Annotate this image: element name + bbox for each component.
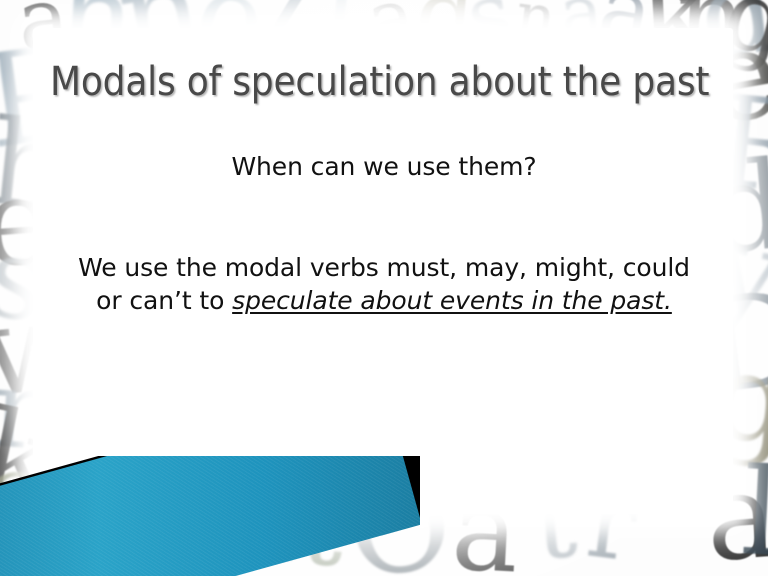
slide-title: Modals of speculation about the past [50,59,710,106]
presentation-slide: ahnoZladsnaakndgPheswrkaeRdyDgalutOatr M… [0,0,768,576]
body-paragraph: We use the modal verbs must, may, might,… [58,251,710,317]
body-subhead: When can we use them? [58,150,710,183]
paragraph-emphasis-text: speculate about events in the past. [232,286,672,315]
slide-body: When can we use them? We use the modal v… [58,150,710,317]
background-glyph: l [740,465,768,563]
